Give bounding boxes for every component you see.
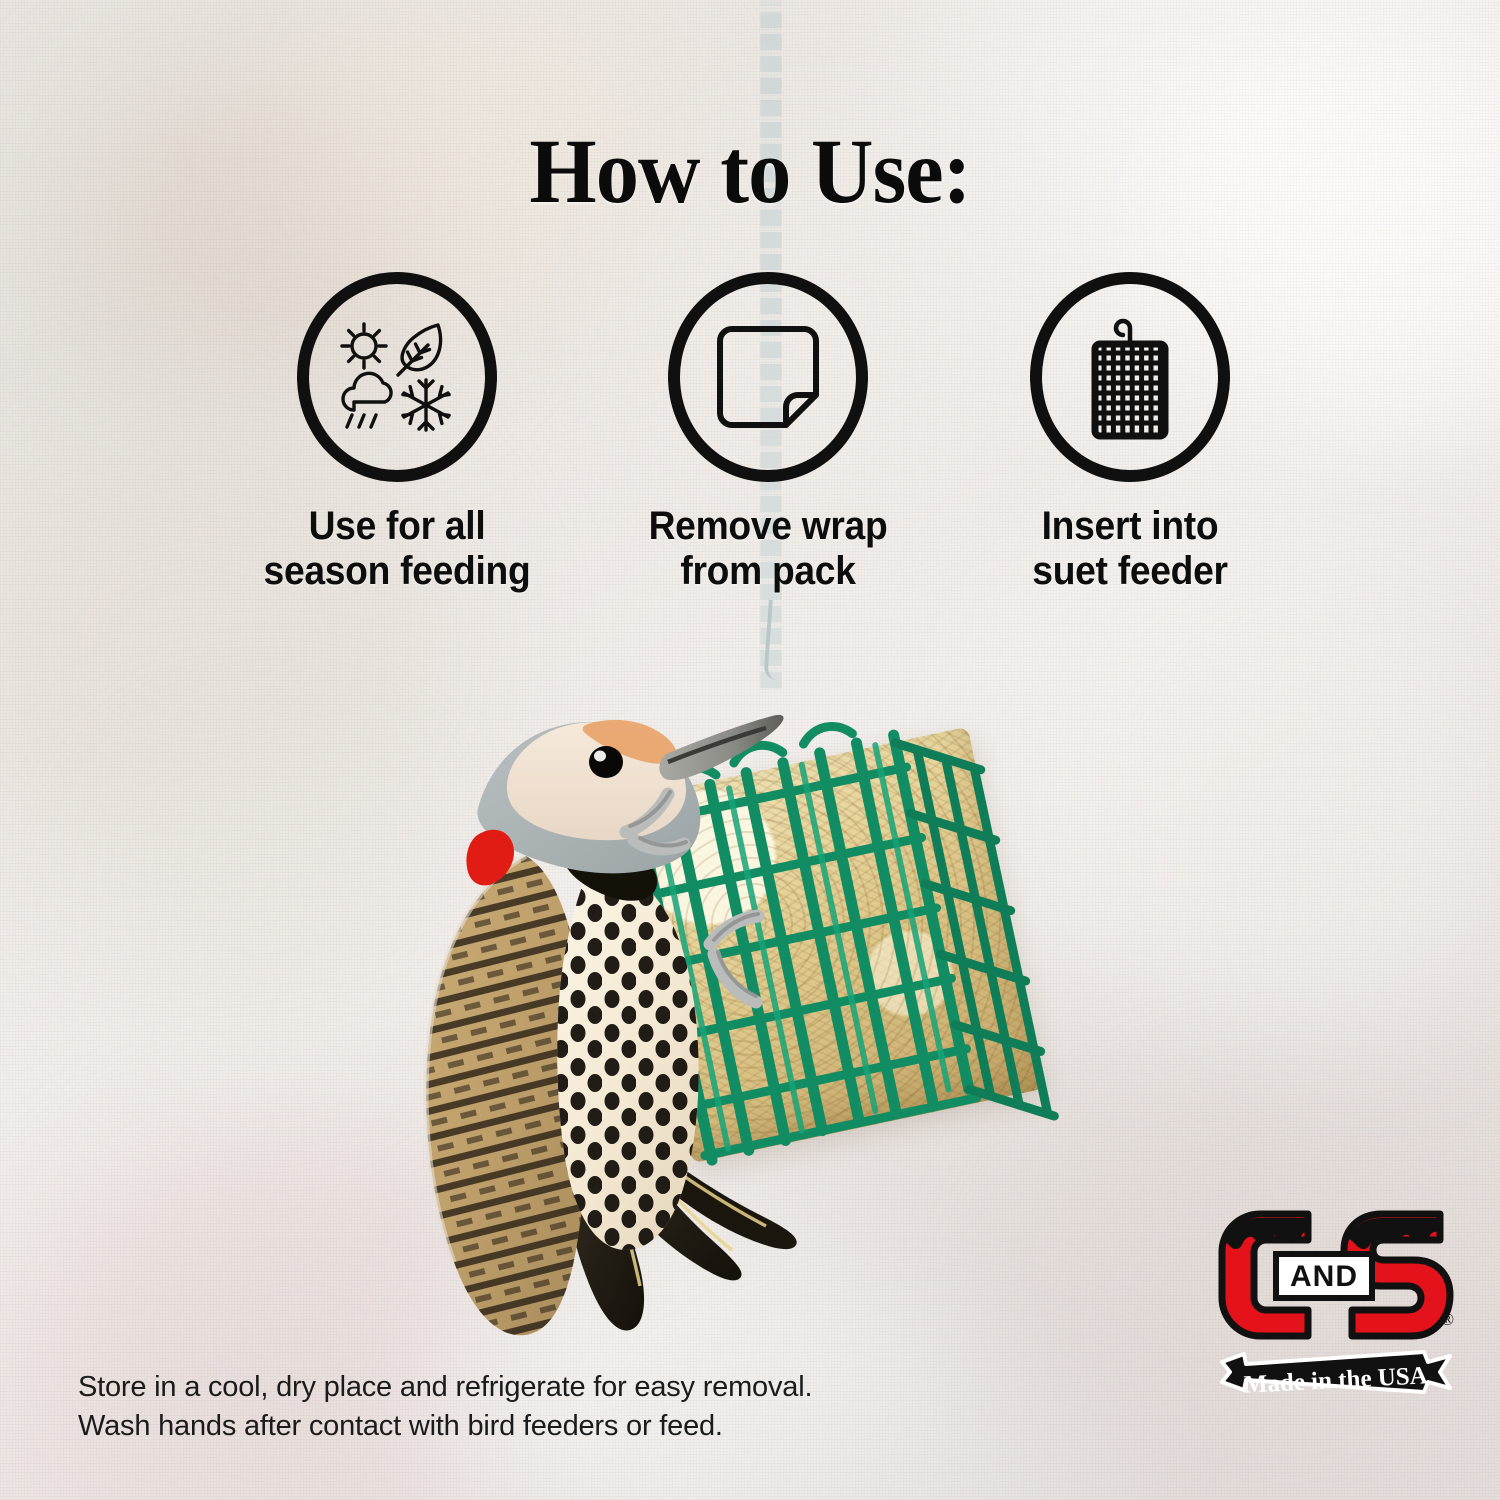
step-caption: Insert into suet feeder: [963, 504, 1298, 594]
snowflake-icon: [403, 380, 449, 430]
bird-beak: [659, 715, 783, 780]
wire-mesh-grid: [1095, 344, 1165, 436]
storage-disclaimer: Store in a cool, dry place and refrigera…: [78, 1368, 838, 1445]
logo-letters-c-and-s: AND ®: [1212, 1196, 1460, 1356]
step-all-season-feeding: Use for all season feeding: [217, 272, 577, 594]
cage-side-panel: [895, 727, 1054, 1133]
bird-head: [466, 715, 783, 886]
step-caption-line1: Use for all: [309, 504, 486, 548]
brand-logo: AND ® Made in the USA: [1212, 1196, 1460, 1422]
step-caption: Use for all season feeding: [230, 504, 565, 594]
northern-flicker-bird: [330, 650, 890, 1350]
how-to-use-steps: Use for all season feeding Remove wrap f…: [0, 272, 1500, 602]
made-in-usa-banner: Made in the USA: [1216, 1348, 1456, 1410]
page-title: How to Use:: [45, 118, 1455, 224]
registered-trademark-mark: ®: [1441, 1310, 1454, 1330]
infographic-canvas: How to Use:: [0, 0, 1500, 1500]
step-caption-line2: from pack: [680, 549, 855, 593]
suet-cage-feeder-icon: [1030, 272, 1230, 482]
all-season-weather-icon: [297, 272, 497, 482]
peel-wrapper-icon: [668, 272, 868, 482]
disclaimer-line-1: Store in a cool, dry place and refrigera…: [78, 1368, 838, 1407]
sun-icon: [342, 324, 386, 368]
step-caption-line1: Insert into: [1042, 504, 1219, 548]
step-insert-into-feeder: Insert into suet feeder: [950, 272, 1310, 594]
logo-and-box: AND: [1276, 1254, 1372, 1298]
step-caption: Remove wrap from pack: [601, 504, 936, 594]
rain-cloud-icon: [343, 373, 391, 427]
step-caption-line1: Remove wrap: [649, 504, 888, 548]
leaf-icon: [398, 325, 441, 375]
step-remove-wrap: Remove wrap from pack: [588, 272, 948, 594]
step-caption-line2: suet feeder: [1032, 549, 1227, 593]
step-caption-line2: season feeding: [264, 549, 531, 593]
product-photo: [330, 640, 1150, 1380]
bird-eye: [589, 746, 623, 778]
svg-text:AND: AND: [1290, 1260, 1358, 1293]
disclaimer-line-2: Wash hands after contact with bird feede…: [78, 1407, 838, 1446]
